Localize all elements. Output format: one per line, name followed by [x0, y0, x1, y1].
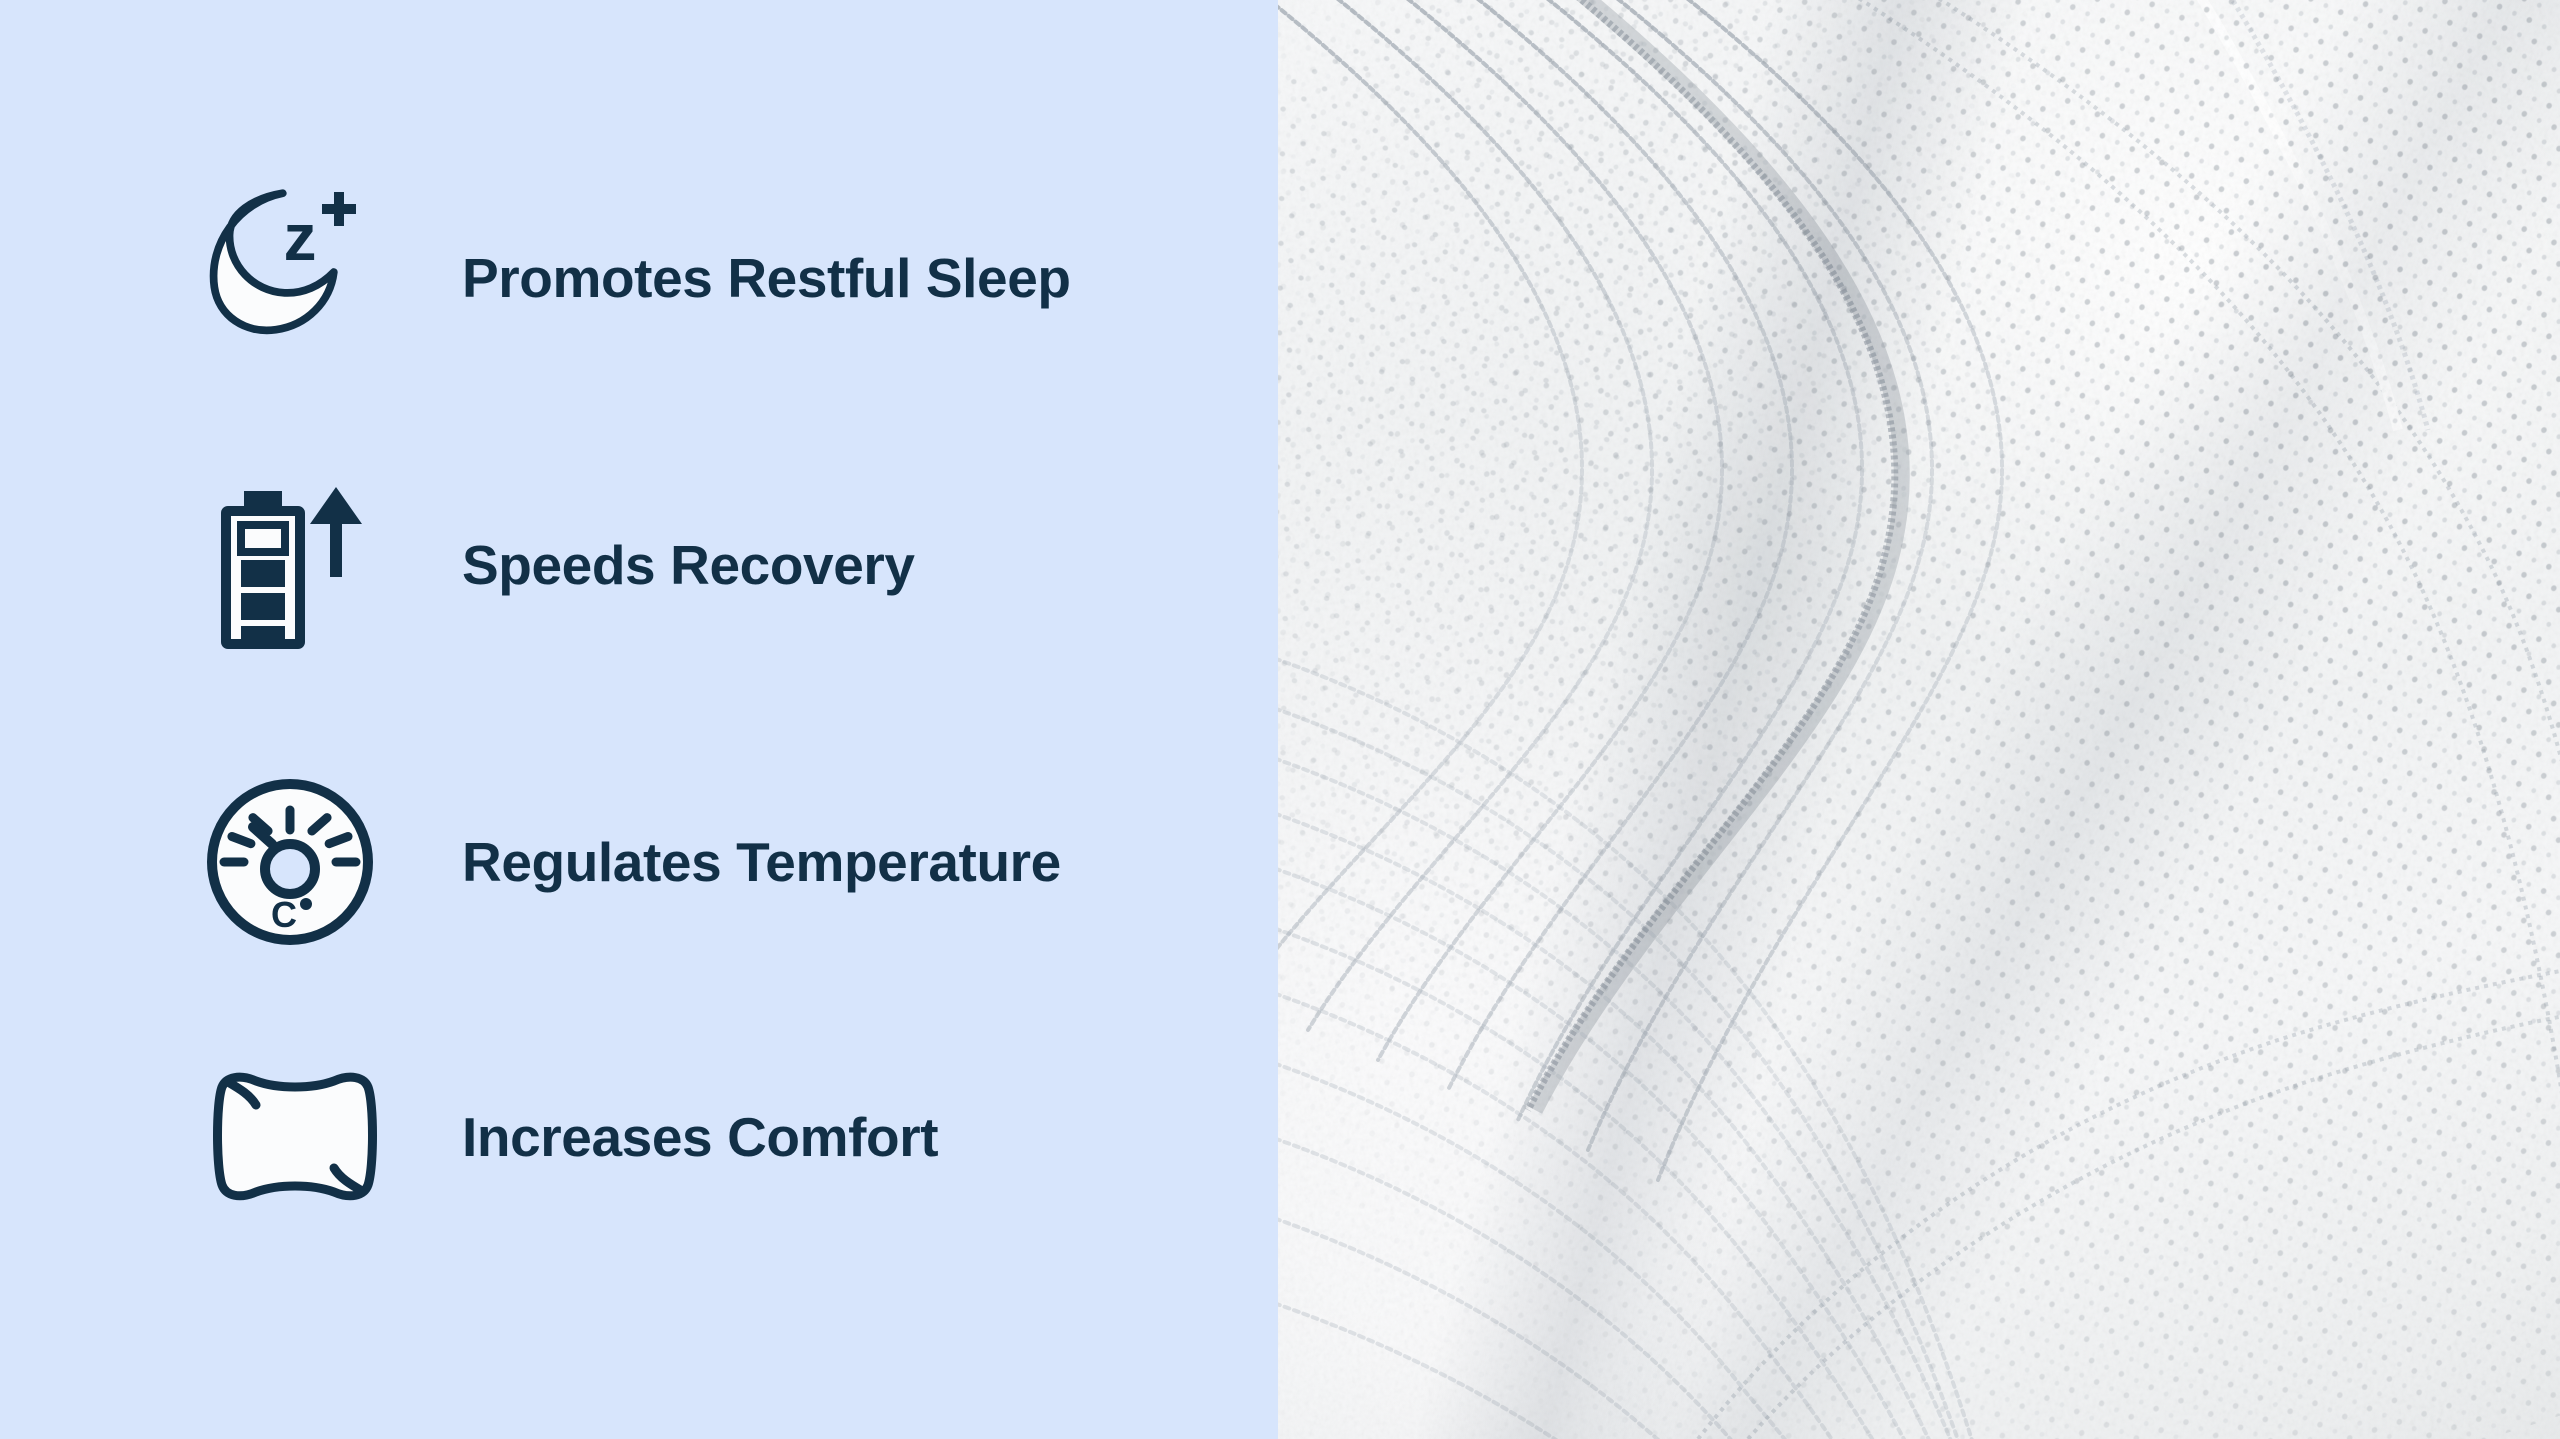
benefits-graphic: z Promotes Restful Sleep: [0, 0, 2560, 1439]
benefit-item-regulates-temperature: C Regulates Temperature: [200, 762, 1061, 962]
benefit-label-promotes-restful-sleep: Promotes Restful Sleep: [462, 251, 1071, 306]
benefits-left-panel: z Promotes Restful Sleep: [0, 0, 1278, 1439]
benefit-label-increases-comfort: Increases Comfort: [462, 1110, 938, 1165]
battery-cell-filled: [241, 593, 285, 620]
battery-cell-filled: [241, 560, 285, 587]
pillow-icon: [200, 1037, 400, 1237]
gauge-icon-svg: C: [200, 772, 380, 952]
benefit-label-speeds-recovery: Speeds Recovery: [462, 538, 915, 593]
moon-z-plus-icon-svg: z: [200, 188, 380, 368]
up-arrow-icon: [310, 487, 362, 577]
benefit-list: z Promotes Restful Sleep: [0, 0, 1278, 1439]
moon-z-glyph: z: [284, 200, 317, 274]
moon-z-plus-icon: z: [200, 178, 400, 378]
benefit-item-promotes-restful-sleep: z Promotes Restful Sleep: [200, 178, 1071, 378]
benefit-item-increases-comfort: Increases Comfort: [200, 1037, 938, 1237]
battery-cap: [244, 491, 282, 508]
mattress-texture-image: [1278, 0, 2560, 1439]
gauge-celsius-glyph: C: [271, 894, 297, 935]
gauge-hub: [265, 844, 315, 894]
gauge-degree-glyph: [300, 898, 312, 910]
texture-shading-bands: [1278, 0, 2560, 1439]
temperature-gauge-icon: C: [200, 762, 400, 962]
moon-plus-glyph: [322, 192, 356, 226]
benefit-item-speeds-recovery: Speeds Recovery: [200, 465, 915, 665]
moon-crescent-shape: [203, 188, 341, 338]
battery-charging-up-arrow-icon: [200, 465, 400, 665]
battery-cell-filled: [241, 626, 285, 640]
battery-icon-svg: [200, 475, 380, 655]
benefit-label-regulates-temperature: Regulates Temperature: [462, 835, 1061, 890]
pillow-icon-svg: [200, 1057, 390, 1217]
